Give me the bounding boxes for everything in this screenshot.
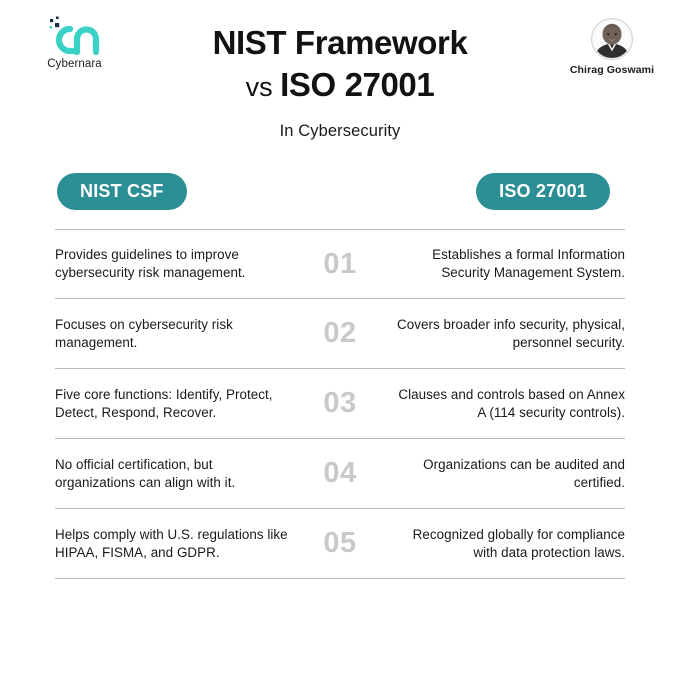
user-avatar-photo (591, 18, 633, 60)
brand-name: Cybernara (47, 58, 102, 70)
iso-cell: Clauses and controls based on Annex A (1… (383, 386, 625, 422)
title-block: NIST Framework vs ISO 27001 In Cybersecu… (150, 22, 530, 141)
column-header-nist-csf[interactable]: NIST CSF (57, 173, 187, 210)
title-vs-word: vs (246, 72, 281, 102)
table-row: Five core functions: Identify, Protect, … (55, 369, 625, 439)
nist-cell: Helps comply with U.S. regulations like … (55, 526, 297, 562)
table-row: No official certification, but organizat… (55, 439, 625, 509)
row-number: 02 (297, 317, 383, 350)
comparison-table: Provides guidelines to improve cybersecu… (55, 229, 625, 579)
row-number: 01 (297, 248, 383, 281)
iso-cell: Covers broader info security, physical, … (383, 316, 625, 352)
brand-logo: Cybernara (22, 16, 127, 70)
poster-header: Cybernara NIST Framework vs ISO 27001 In… (0, 0, 680, 155)
column-header-iso-27001[interactable]: ISO 27001 (476, 173, 610, 210)
table-row: Focuses on cybersecurity risk management… (55, 299, 625, 369)
title-iso-word: ISO 27001 (280, 66, 434, 103)
author-block: Chirag Goswami (562, 18, 662, 76)
row-number: 04 (297, 457, 383, 490)
nist-cell: Provides guidelines to improve cybersecu… (55, 246, 297, 282)
column-headers: NIST CSF ISO 27001 (0, 167, 680, 215)
iso-cell: Establishes a formal Information Securit… (383, 246, 625, 282)
cybernara-cn-monogram-icon (44, 16, 106, 56)
nist-cell: Five core functions: Identify, Protect, … (55, 386, 297, 422)
page-subtitle: In Cybersecurity (150, 122, 530, 141)
iso-cell: Organizations can be audited and certifi… (383, 456, 625, 492)
author-name: Chirag Goswami (570, 64, 654, 76)
infographic-poster: Cybernara NIST Framework vs ISO 27001 In… (0, 0, 680, 680)
nist-cell: Focuses on cybersecurity risk management… (55, 316, 297, 352)
table-row: Provides guidelines to improve cybersecu… (55, 229, 625, 299)
row-number: 05 (297, 527, 383, 560)
table-row: Helps comply with U.S. regulations like … (55, 509, 625, 579)
iso-cell: Recognized globally for compliance with … (383, 526, 625, 562)
page-title-line-2: vs ISO 27001 (150, 64, 530, 105)
page-title-line-1: NIST Framework (150, 22, 530, 63)
row-number: 03 (297, 387, 383, 420)
nist-cell: No official certification, but organizat… (55, 456, 297, 492)
